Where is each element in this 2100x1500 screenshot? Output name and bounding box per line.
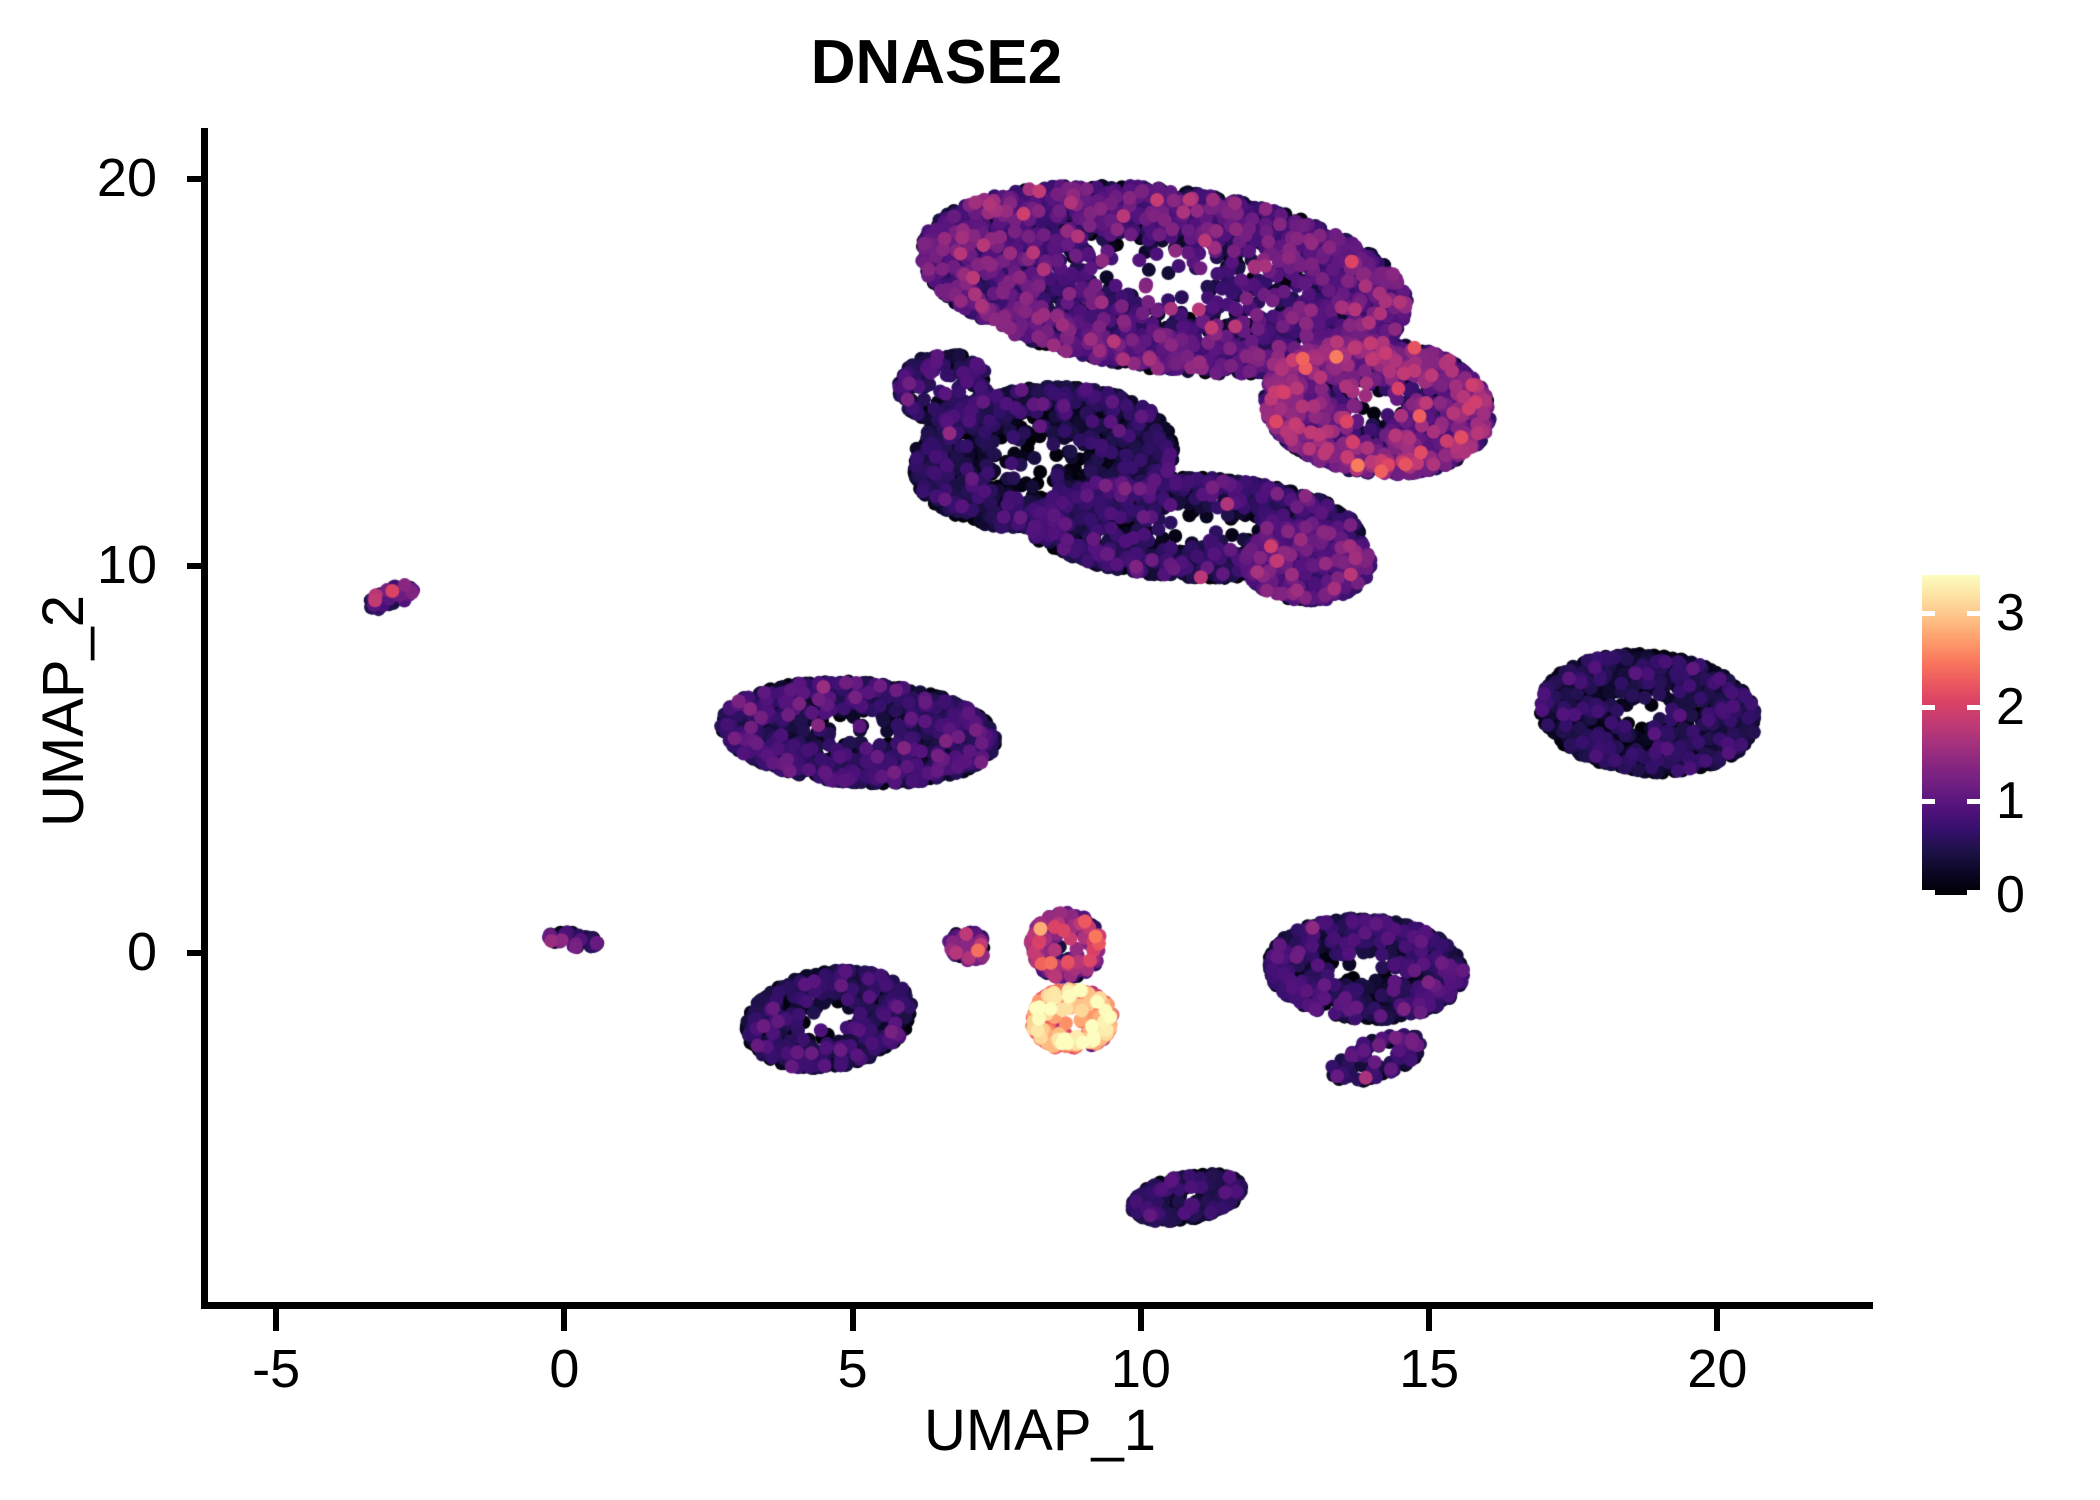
- colorbar-tick-mark: [1922, 611, 1935, 616]
- x-tick-mark: [1426, 1309, 1432, 1331]
- x-tick-label: 20: [1647, 1342, 1787, 1396]
- x-tick-label: 15: [1359, 1342, 1499, 1396]
- x-tick-mark: [1138, 1309, 1144, 1331]
- colorbar-gradient: [1922, 575, 1980, 895]
- x-tick-mark: [850, 1309, 856, 1331]
- colorbar-legend: 0123: [1922, 575, 2092, 905]
- colorbar-tick-label: 0: [1996, 869, 2086, 921]
- y-tick-mark: [187, 563, 207, 569]
- plot-panel: [207, 140, 1873, 1302]
- colorbar-tick-mark: [1922, 705, 1935, 710]
- x-tick-label: 10: [1071, 1342, 1211, 1396]
- x-tick-label: -5: [206, 1342, 346, 1396]
- x-tick-mark: [561, 1309, 567, 1331]
- umap-feature-plot: DNASE2 01020 -505101520 UMAP_1 UMAP_2 01…: [0, 0, 2100, 1500]
- x-tick-label: 0: [494, 1342, 634, 1396]
- y-tick-mark: [187, 176, 207, 182]
- colorbar-tick-mark: [1967, 705, 1980, 710]
- x-axis-spine: [201, 1302, 1873, 1309]
- y-axis-title: UMAP_2: [33, 361, 95, 1061]
- colorbar-tick-mark: [1922, 799, 1935, 804]
- scatter-canvas: [207, 140, 1873, 1302]
- x-tick-mark: [1714, 1309, 1720, 1331]
- y-tick-mark: [187, 950, 207, 956]
- colorbar-tick-label: 3: [1996, 587, 2086, 639]
- x-axis-title: UMAP_1: [207, 1400, 1873, 1462]
- x-tick-mark: [273, 1309, 279, 1331]
- colorbar-tick-mark: [1967, 890, 1980, 895]
- y-tick-label: 20: [7, 151, 157, 205]
- colorbar-tick-label: 2: [1996, 681, 2086, 733]
- colorbar-tick-mark: [1967, 799, 1980, 804]
- colorbar-tick-mark: [1922, 890, 1935, 895]
- y-axis-spine: [201, 128, 208, 1309]
- page-title: DNASE2: [0, 28, 1873, 98]
- x-tick-label: 5: [783, 1342, 923, 1396]
- colorbar-tick-mark: [1967, 611, 1980, 616]
- colorbar-tick-label: 1: [1996, 775, 2086, 827]
